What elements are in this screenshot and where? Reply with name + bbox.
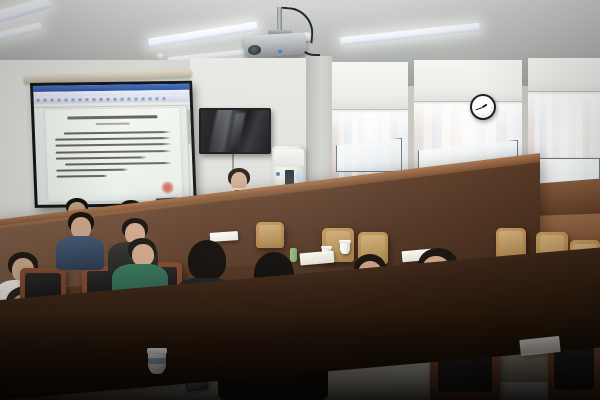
document-heading-line <box>67 115 158 119</box>
ac-top-vent <box>274 149 304 167</box>
document-body-line <box>56 175 107 178</box>
attendee-hair <box>188 240 226 280</box>
screenshot-root: Conference room meeting with projected d… <box>0 0 600 400</box>
ac-brand-badge <box>296 172 303 180</box>
document-body-line <box>55 137 171 141</box>
tv-screen-reflection <box>229 113 245 151</box>
attendee-shirt <box>56 236 104 270</box>
document-date-line <box>95 123 130 125</box>
document-body-line <box>56 150 172 154</box>
projected-document <box>33 84 194 205</box>
document-page <box>45 108 183 202</box>
smoke-detector-icon <box>156 53 165 59</box>
document-red-seal-icon <box>161 181 175 194</box>
projection-screen <box>30 81 197 208</box>
paper-cup <box>340 240 350 254</box>
document-body-line <box>56 169 128 172</box>
window-roller-blind <box>414 60 522 102</box>
window-roller-blind <box>332 62 408 110</box>
projector-indicator-led <box>278 50 282 53</box>
document-scrollbar[interactable] <box>186 106 194 203</box>
window-roller-blind <box>528 58 600 92</box>
ac-indicator-icon <box>276 172 280 176</box>
wall-clock <box>470 94 496 120</box>
document-body-line <box>55 143 171 147</box>
attendee-head <box>132 244 154 266</box>
chair-empty <box>256 222 284 248</box>
projector-mount-arm <box>277 7 282 32</box>
document-body-line <box>65 162 172 165</box>
tv-screen <box>201 110 269 152</box>
document-body-line <box>56 156 147 159</box>
document-ruler <box>34 102 190 108</box>
paper-cup <box>148 348 166 374</box>
document-body-line <box>64 131 171 134</box>
attendee-near-left-3 <box>56 212 104 270</box>
wall-mounted-tv <box>199 108 271 154</box>
